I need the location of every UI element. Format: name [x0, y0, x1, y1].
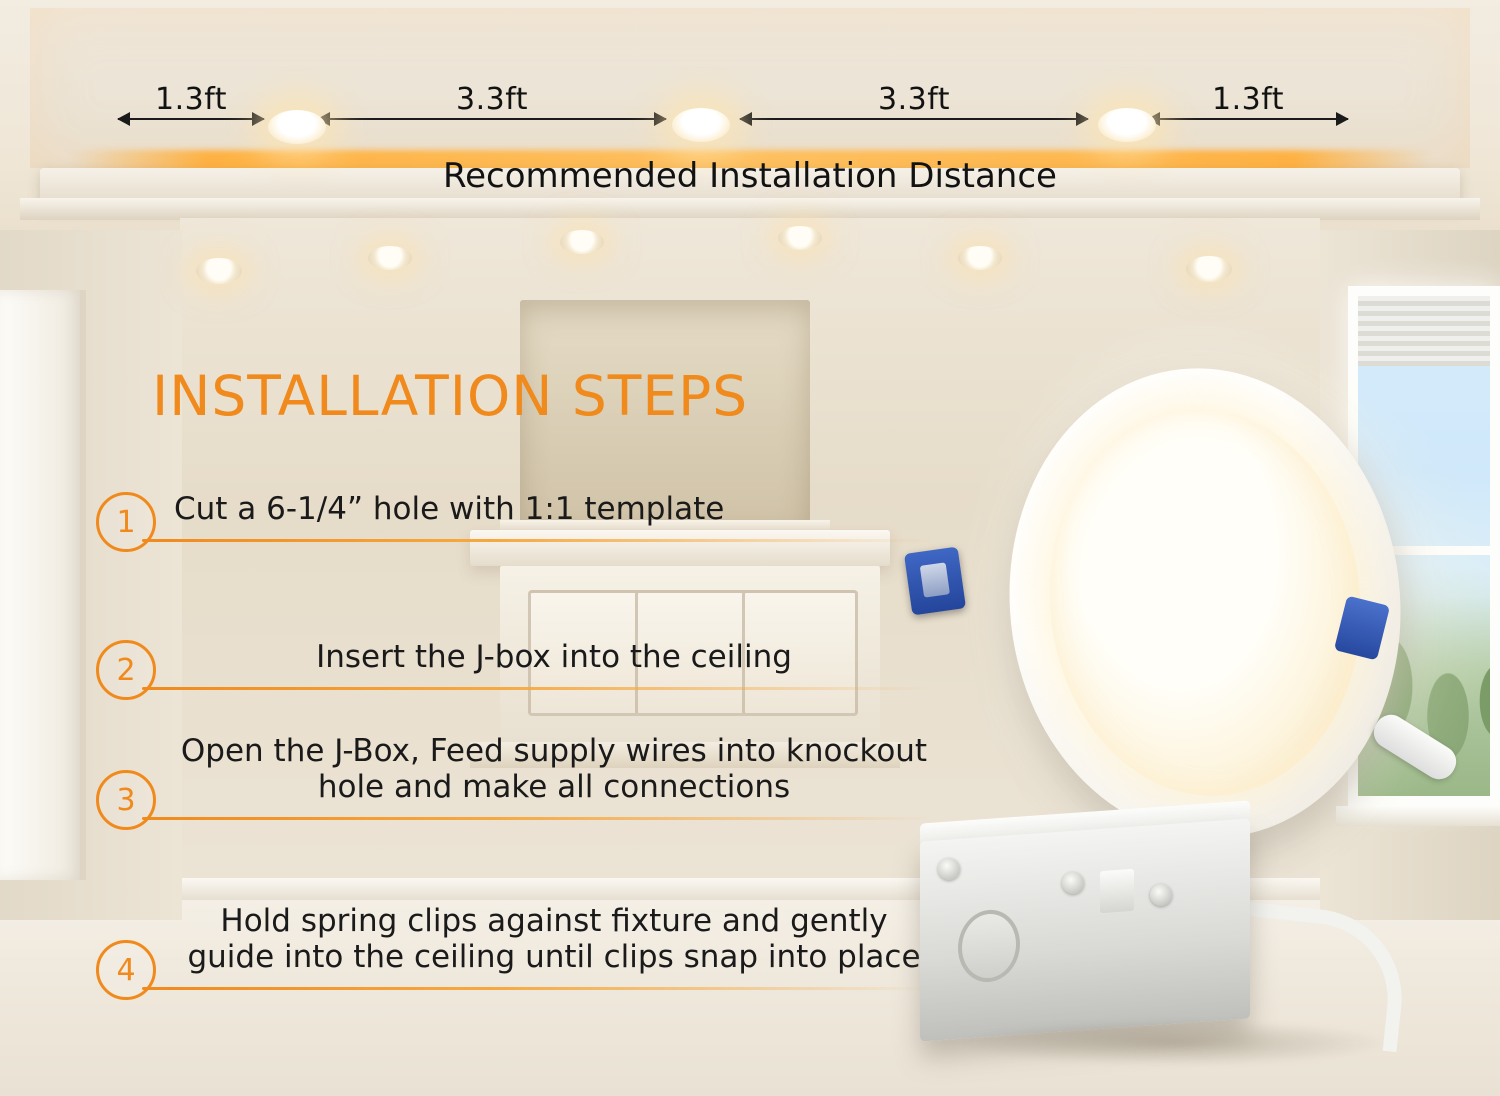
distance-arrow	[740, 118, 1088, 120]
step-text: Insert the J-box into the ceiling	[174, 640, 934, 676]
step-underline	[142, 687, 932, 690]
recessed-ceiling-light	[368, 246, 412, 270]
step-underline	[142, 987, 932, 990]
door	[0, 290, 86, 880]
junction-box-screw	[1150, 884, 1172, 906]
diagram-downlight	[268, 110, 326, 144]
clip-slot	[920, 562, 950, 597]
step-text: Cut a 6-1/4” hole with 1:1 template	[174, 492, 934, 528]
recessed-ceiling-light	[958, 246, 1002, 270]
installation-step: 1Cut a 6-1/4” hole with 1:1 template	[96, 452, 926, 542]
diagram-downlight	[1098, 108, 1156, 142]
spring-clip-left	[904, 547, 966, 616]
distance-arrow	[1148, 118, 1348, 120]
distance-arrows: 1.3ft3.3ft3.3ft1.3ft	[0, 72, 1500, 108]
scene-image: 1.3ft3.3ft3.3ft1.3ft Recommended Install…	[0, 0, 1500, 1096]
step-number-badge: 4	[96, 940, 156, 1000]
installation-distance-diagram: 1.3ft3.3ft3.3ft1.3ft Recommended Install…	[0, 40, 1500, 170]
junction-box-screw	[1062, 872, 1084, 894]
distance-label: 3.3ft	[318, 82, 666, 117]
step-number-badge: 1	[96, 492, 156, 552]
distance-arrow	[318, 118, 666, 120]
step-text: Hold spring clips against fixture and ge…	[174, 904, 934, 976]
installation-step: 2Insert the J-box into the ceiling	[96, 600, 926, 690]
junction-box-screw	[938, 858, 960, 880]
step-underline	[142, 539, 932, 542]
junction-box-tab	[1100, 869, 1134, 913]
recessed-ceiling-light	[778, 226, 822, 250]
led-downlight-product	[900, 350, 1500, 1070]
recessed-ceiling-light	[560, 230, 604, 254]
step-number-badge: 3	[96, 770, 156, 830]
distance-label: 3.3ft	[740, 82, 1088, 117]
quick-connector	[1368, 709, 1462, 786]
product-shadow	[960, 1020, 1390, 1066]
recessed-ceiling-light	[196, 258, 242, 284]
step-text: Open the J-Box, Feed supply wires into k…	[174, 734, 934, 806]
distance-label: 1.3ft	[118, 82, 264, 117]
diagram-title: Recommended Installation Distance	[0, 156, 1500, 196]
recessed-ceiling-light	[1186, 256, 1232, 282]
installation-steps-heading: INSTALLATION STEPS	[152, 364, 748, 428]
diagram-downlight	[672, 108, 730, 142]
installation-step: 3Open the J-Box, Feed supply wires into …	[96, 730, 926, 820]
step-number-badge: 2	[96, 640, 156, 700]
distance-label: 1.3ft	[1148, 82, 1348, 117]
step-underline	[142, 817, 932, 820]
installation-step: 4Hold spring clips against fixture and g…	[96, 900, 926, 990]
cove-molding-lower	[20, 198, 1480, 220]
distance-arrow	[118, 118, 264, 120]
